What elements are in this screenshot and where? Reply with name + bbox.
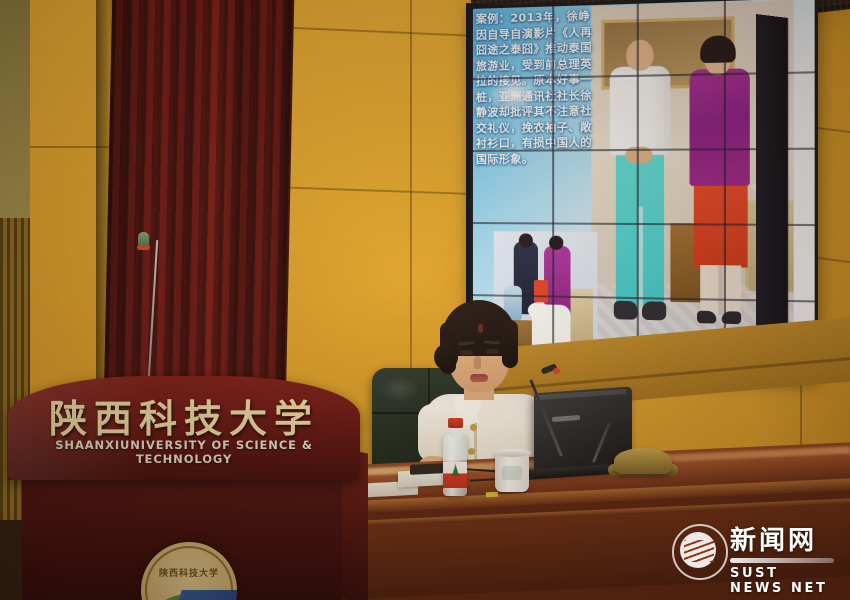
presenter-mouth <box>470 374 488 382</box>
presenter-eye-right <box>486 349 499 354</box>
photo-scene: 案例：2013年，徐峥因自导自演影片《人再囧途之泰囧》推动泰国旅游业，受到前总理… <box>0 0 850 600</box>
watermark-brush-stroke <box>730 558 834 563</box>
podium-microphone-ring <box>137 245 150 250</box>
watermark: 新闻网 SUST NEWS NET <box>672 514 838 590</box>
water-bottle-cap <box>448 418 463 428</box>
watermark-name-cn: 新闻网 <box>730 520 817 557</box>
screen-right-bezel <box>756 14 788 370</box>
lectern: 陕西科技大学 SHAANXIUNIVERSITY OF SCIENCE & TE… <box>8 376 360 600</box>
presenter-forehead-mark <box>478 324 483 333</box>
emblem-text: 陕西科技大学 <box>141 566 237 579</box>
watermark-name-en: SUST NEWS NET <box>730 566 838 596</box>
paper-cup-rim <box>493 449 531 457</box>
stage-curtain <box>104 0 295 406</box>
presenter-hair-side <box>502 320 518 368</box>
university-name-en: SHAANXIUNIVERSITY OF SCIENCE & TECHNOLOG… <box>8 438 360 466</box>
presenter-hair-bun <box>434 344 458 370</box>
university-name-cn: 陕西科技大学 <box>8 388 360 443</box>
desk-dark-object <box>410 463 444 475</box>
logo-stripes <box>684 540 714 562</box>
presenter-button <box>470 424 477 431</box>
paper-cup-logo <box>502 466 522 480</box>
desk-microphone-base <box>614 448 672 474</box>
sust-circular-logo-icon <box>672 524 728 580</box>
desk-microphone-tip <box>553 368 560 374</box>
presenter-nose <box>474 356 481 369</box>
desk-yellow-tag <box>486 492 498 498</box>
presenter-button <box>468 448 475 455</box>
presenter-eye-left <box>460 350 473 355</box>
